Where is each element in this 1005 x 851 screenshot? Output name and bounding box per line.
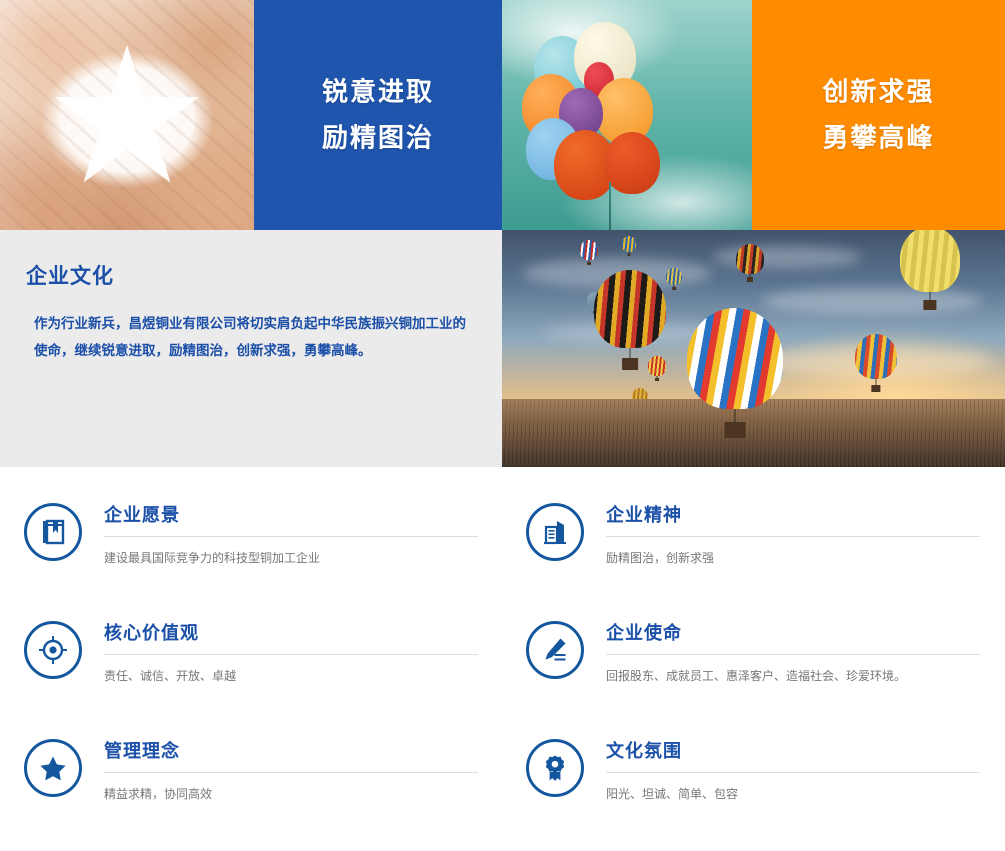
feature-grid: 企业愿景 建设最具国际竞争力的科技型铜加工企业 企业精神 励精图治，创新求强 bbox=[0, 467, 1005, 851]
feature-text-block: 文化氛围 阳光、坦诚、简单、包容 bbox=[584, 735, 980, 804]
slogan-blue-text: 锐意进取 励精图治 bbox=[254, 70, 502, 161]
culture-text-panel: 企业文化 作为行业新兵，昌煜铜业有限公司将切实肩负起中华民族振兴铜加工业的使命，… bbox=[0, 230, 502, 467]
slogan-orange-line1: 创新求强 bbox=[752, 70, 1005, 116]
feature-desc: 精益求精，协同高效 bbox=[104, 773, 478, 804]
slogan-blue-line1: 锐意进取 bbox=[254, 70, 502, 116]
culture-title: 企业文化 bbox=[26, 260, 476, 290]
balloons-photo bbox=[502, 0, 752, 230]
feature-text-block: 企业愿景 建设最具国际竞争力的科技型铜加工企业 bbox=[82, 499, 478, 568]
hands-star-photo bbox=[0, 0, 254, 230]
feature-item-spirit[interactable]: 企业精神 励精图治，创新求强 bbox=[502, 499, 1004, 617]
star-icon bbox=[24, 739, 82, 797]
culture-body-text: 作为行业新兵，昌煜铜业有限公司将切实肩负起中华民族振兴铜加工业的使命，继续锐意进… bbox=[26, 310, 466, 364]
balloon-string bbox=[609, 182, 611, 230]
hot-air-balloon-main bbox=[687, 308, 783, 438]
feature-desc: 励精图治，创新求强 bbox=[606, 537, 980, 568]
balloon-shape bbox=[604, 132, 660, 194]
pencil-icon bbox=[526, 621, 584, 679]
hot-air-balloon bbox=[622, 236, 636, 256]
feature-item-mission[interactable]: 企业使命 回报股东、成就员工、惠泽客户、造福社会、珍爱环境。 bbox=[502, 617, 1004, 735]
feature-title: 企业精神 bbox=[606, 501, 980, 537]
feature-item-management[interactable]: 管理理念 精益求精，协同高效 bbox=[0, 735, 502, 851]
hot-air-balloon bbox=[855, 334, 897, 392]
slogan-orange-line2: 勇攀高峰 bbox=[752, 115, 1005, 161]
banner-slogan-orange: 创新求强 勇攀高峰 bbox=[752, 0, 1005, 230]
feature-text-block: 管理理念 精益求精，协同高效 bbox=[82, 735, 478, 804]
feature-desc: 阳光、坦诚、简单、包容 bbox=[606, 773, 980, 804]
banner-balloons-photo bbox=[502, 0, 752, 230]
feature-item-vision[interactable]: 企业愿景 建设最具国际竞争力的科技型铜加工企业 bbox=[0, 499, 502, 617]
culture-balloons-image bbox=[502, 230, 1005, 467]
hot-air-balloon bbox=[666, 268, 682, 290]
book-icon bbox=[24, 503, 82, 561]
slogan-blue-line2: 励精图治 bbox=[254, 115, 502, 161]
feature-title: 企业愿景 bbox=[104, 501, 478, 537]
buildings-icon bbox=[526, 503, 584, 561]
hot-air-balloon bbox=[736, 244, 764, 282]
hot-air-balloon bbox=[580, 240, 598, 265]
hot-air-balloon bbox=[900, 230, 960, 310]
culture-section: 企业文化 作为行业新兵，昌煜铜业有限公司将切实肩负起中华民族振兴铜加工业的使命，… bbox=[0, 230, 1005, 467]
award-icon bbox=[526, 739, 584, 797]
feature-title: 核心价值观 bbox=[104, 619, 478, 655]
feature-item-core-values[interactable]: 核心价值观 责任、诚信、开放、卓越 bbox=[0, 617, 502, 735]
feature-title: 企业使命 bbox=[606, 619, 980, 655]
feature-desc: 建设最具国际竞争力的科技型铜加工企业 bbox=[104, 537, 478, 568]
feature-desc: 责任、诚信、开放、卓越 bbox=[104, 655, 478, 686]
feature-desc: 回报股东、成就员工、惠泽客户、造福社会、珍爱环境。 bbox=[606, 655, 980, 686]
hot-air-balloon bbox=[594, 270, 666, 370]
target-icon bbox=[24, 621, 82, 679]
feature-item-atmosphere[interactable]: 文化氛围 阳光、坦诚、简单、包容 bbox=[502, 735, 1004, 851]
star-shape bbox=[52, 45, 202, 195]
top-banner: 锐意进取 励精图治 创新求强 勇攀高峰 bbox=[0, 0, 1005, 230]
slogan-orange-text: 创新求强 勇攀高峰 bbox=[752, 70, 1005, 161]
feature-title: 管理理念 bbox=[104, 737, 478, 773]
banner-hands-photo bbox=[0, 0, 254, 230]
banner-slogan-blue: 锐意进取 励精图治 bbox=[254, 0, 502, 230]
feature-text-block: 企业使命 回报股东、成就员工、惠泽客户、造福社会、珍爱环境。 bbox=[584, 617, 980, 686]
cloud-shape bbox=[712, 246, 862, 268]
feature-text-block: 核心价值观 责任、诚信、开放、卓越 bbox=[82, 617, 478, 686]
feature-title: 文化氛围 bbox=[606, 737, 980, 773]
feature-text-block: 企业精神 励精图治，创新求强 bbox=[584, 499, 980, 568]
